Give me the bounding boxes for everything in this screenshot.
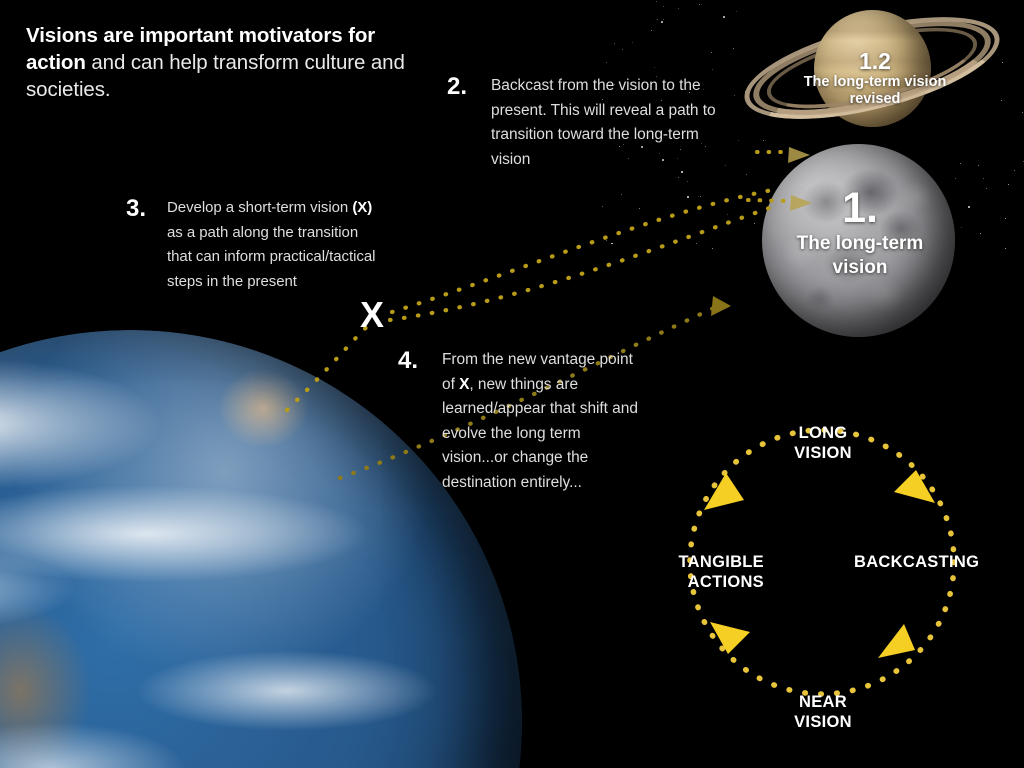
- cycle-label-long-vision-line1: LONG: [760, 423, 886, 443]
- step-2-text: Backcast from the vision to the present.…: [491, 74, 717, 172]
- step-4-text: From the new vantage point of X, new thi…: [442, 348, 648, 495]
- step-3-text: Develop a short-term vision (X) as a pat…: [167, 196, 376, 294]
- step-2-text-before: Backcast from the vision to the present.…: [491, 77, 716, 168]
- cycle-arrow-upper-left-icon: [704, 473, 744, 510]
- cycle-arrow-lower-left-icon: [710, 622, 750, 654]
- cycle-arrow-lower-right-icon: [878, 624, 915, 658]
- step-3-number: 3.: [126, 196, 167, 221]
- cycle-arrow-upper-right-icon: [894, 470, 935, 503]
- step-4-text-after: , new things are learned/appear that shi…: [442, 376, 638, 491]
- saturn-label-text: The long-term vision revised: [800, 74, 950, 108]
- cycle-label-near-vision-line2: VISION: [760, 712, 886, 732]
- cycle-label-tangible-actions: TANGIBLE ACTIONS: [620, 552, 764, 592]
- step-2-number: 2.: [447, 74, 491, 99]
- moon-label-number: 1.: [770, 184, 950, 232]
- step-item-4: 4. From the new vantage point of X, new …: [398, 348, 648, 495]
- step-3-text-before: Develop a short-term vision: [167, 199, 352, 216]
- step-4-number: 4.: [398, 348, 442, 373]
- cycle-label-near-vision: NEAR VISION: [760, 692, 886, 732]
- x-marker: X: [360, 296, 384, 334]
- moon-arrow-upper-icon: [788, 147, 810, 163]
- step-item-3: 3. Develop a short-term vision (X) as a …: [126, 196, 376, 294]
- moon-label-text: The long-term vision: [770, 232, 950, 280]
- vantage-arrow-icon: [711, 296, 731, 316]
- step-3-text-after: as a path along the transition that can …: [167, 224, 375, 290]
- moon-label: 1. The long-term vision: [770, 184, 950, 280]
- cycle-label-long-vision-line2: VISION: [760, 443, 886, 463]
- cycle-label-near-vision-line1: NEAR: [760, 692, 886, 712]
- cycle-label-long-vision: LONG VISION: [760, 423, 886, 463]
- cycle-diagram: LONG VISION BACKCASTING NEAR VISION TANG…: [620, 410, 1024, 768]
- cycle-label-tangible-actions-line2: ACTIONS: [620, 572, 764, 592]
- step-4-bold-token: X: [459, 376, 469, 393]
- path-transition-arc: [287, 322, 372, 410]
- step-3-bold-token: (X): [352, 199, 372, 216]
- cycle-label-tangible-actions-line1: TANGIBLE: [620, 552, 764, 572]
- cycle-label-backcasting: BACKCASTING: [854, 552, 1024, 572]
- cycle-label-backcasting-line1: BACKCASTING: [854, 552, 1024, 572]
- step-item-2: 2. Backcast from the vision to the prese…: [447, 74, 717, 172]
- saturn-label-number: 1.2: [800, 48, 950, 74]
- path-backcast-upper: [392, 190, 772, 312]
- page-title: Visions are important motivators for act…: [26, 22, 406, 103]
- infographic-canvas: Visions are important motivators for act…: [0, 0, 1024, 768]
- saturn-label: 1.2 The long-term vision revised: [800, 48, 950, 108]
